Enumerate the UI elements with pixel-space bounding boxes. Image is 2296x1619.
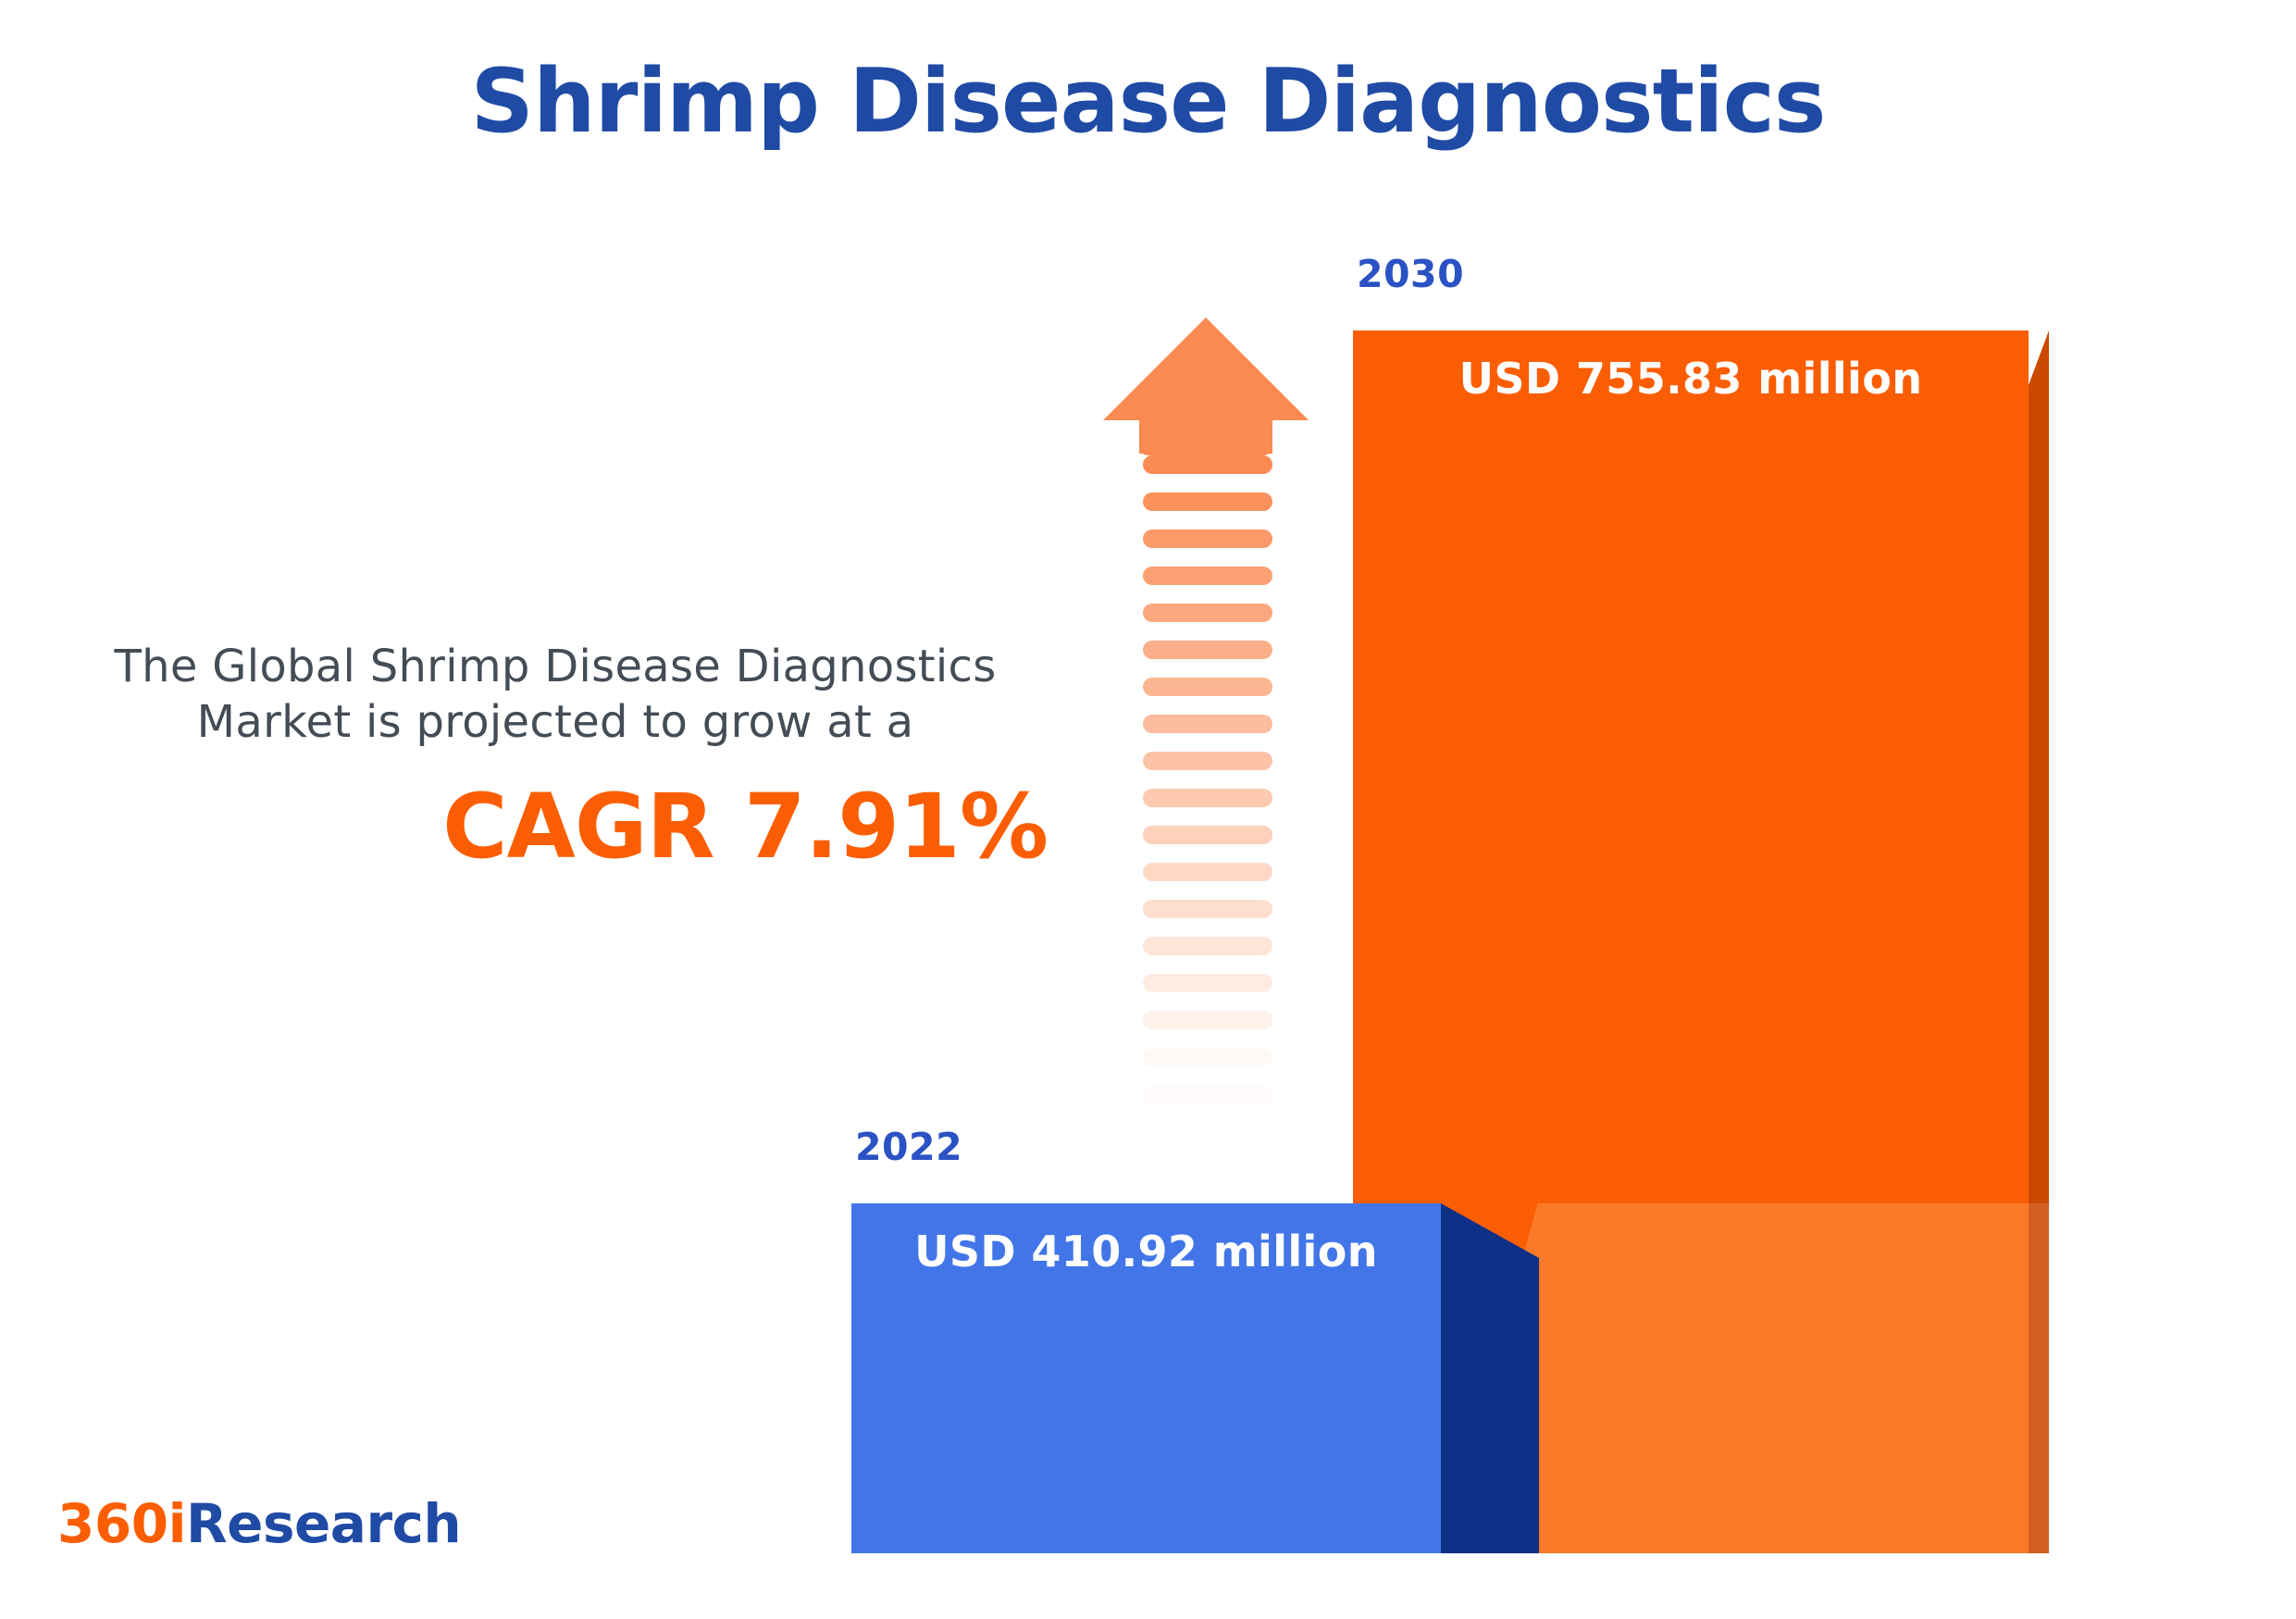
arrow-trail-bar xyxy=(1143,1048,1272,1066)
arrow-trail-bar xyxy=(1143,937,1272,955)
caption-block: The Global Shrimp Disease Diagnostics Ma… xyxy=(56,639,1055,878)
year-label-2022: 2022 xyxy=(855,1125,962,1169)
arrow-trail-bar xyxy=(1143,678,1272,696)
arrow-trail-bar xyxy=(1143,826,1272,844)
arrow-trail-bar xyxy=(1143,492,1272,511)
arrow-trail xyxy=(1143,455,1272,1097)
brand-logo-suffix: Research xyxy=(186,1492,461,1555)
arrow-trail-bar xyxy=(1143,900,1272,918)
bar-value-2022: USD 410.92 million xyxy=(851,1227,1441,1277)
arrow-trail-bar xyxy=(1143,752,1272,770)
arrow-trail-bar xyxy=(1143,715,1272,733)
page-title: Shrimp Disease Diagnostics xyxy=(0,51,2296,153)
arrow-trail-bar xyxy=(1143,641,1272,659)
arrow-trail-bar xyxy=(1143,455,1272,474)
up-arrow-icon xyxy=(1101,315,1310,1097)
brand-logo[interactable]: 360iResearch xyxy=(57,1492,461,1555)
arrow-trail-bar xyxy=(1143,789,1272,807)
caption-line-2: Market is projected to grow at a xyxy=(56,694,1055,750)
arrow-head-icon xyxy=(1101,315,1310,455)
cagr-value: CAGR 7.91% xyxy=(56,775,1055,878)
arrow-trail-bar xyxy=(1143,567,1272,585)
brand-logo-prefix: 360i xyxy=(57,1492,186,1555)
arrow-trail-bar xyxy=(1143,529,1272,548)
bar-value-2030: USD 755.83 million xyxy=(1353,354,2029,404)
bar-2030-lower-side-face xyxy=(2029,1203,2049,1553)
arrow-trail-bar xyxy=(1143,974,1272,992)
caption-line-1: The Global Shrimp Disease Diagnostics xyxy=(56,639,1055,694)
arrow-trail-bar xyxy=(1143,863,1272,881)
year-label-2030: 2030 xyxy=(1357,252,1464,296)
arrow-trail-bar xyxy=(1143,1011,1272,1029)
infographic-canvas: Shrimp Disease Diagnostics The Global Sh… xyxy=(0,0,2296,1619)
arrow-trail-bar xyxy=(1143,604,1272,622)
bar-2030-lower-face xyxy=(1538,1203,2029,1553)
arrow-trail-bar xyxy=(1143,1085,1272,1103)
bar-2022-side-face xyxy=(1441,1203,1539,1553)
